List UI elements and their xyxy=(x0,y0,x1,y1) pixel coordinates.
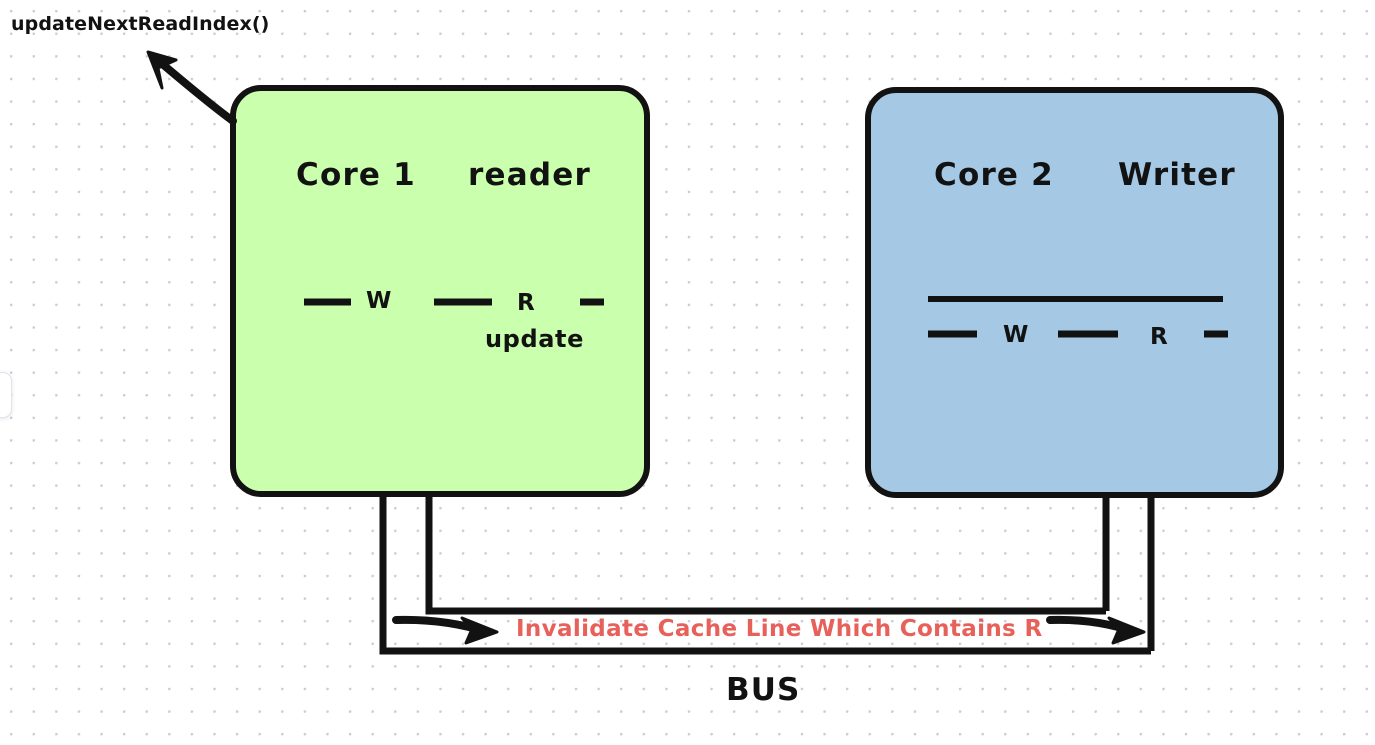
core2-register-r: R xyxy=(1150,324,1168,350)
core2-register-w: W xyxy=(1003,322,1029,348)
core1-update-annotation: update xyxy=(485,325,584,353)
core1-inner-bus-connector xyxy=(429,494,1106,611)
core2-box[interactable] xyxy=(868,90,1281,495)
core1-box[interactable] xyxy=(233,88,647,494)
edge-collapse-widget[interactable]: « xyxy=(0,372,12,418)
callout-arrow xyxy=(160,62,233,121)
core1-role-label: reader xyxy=(468,157,591,193)
core1-register-w: W xyxy=(366,288,392,314)
core2-role-label: Writer xyxy=(1118,157,1236,193)
bus-label: BUS xyxy=(726,672,800,708)
core1-register-r: R xyxy=(517,290,535,316)
bus-arrow-right-head xyxy=(1109,618,1144,643)
bus-invalidate-message: Invalidate Cache Line Which Contains R xyxy=(516,616,1043,642)
core2-title: Core 2 xyxy=(934,157,1054,193)
diagram-canvas: updateNextReadIndex() Core 1 reader W R … xyxy=(0,0,1375,745)
update-next-read-index-label: updateNextReadIndex() xyxy=(11,13,269,35)
core1-title: Core 1 xyxy=(296,157,416,193)
